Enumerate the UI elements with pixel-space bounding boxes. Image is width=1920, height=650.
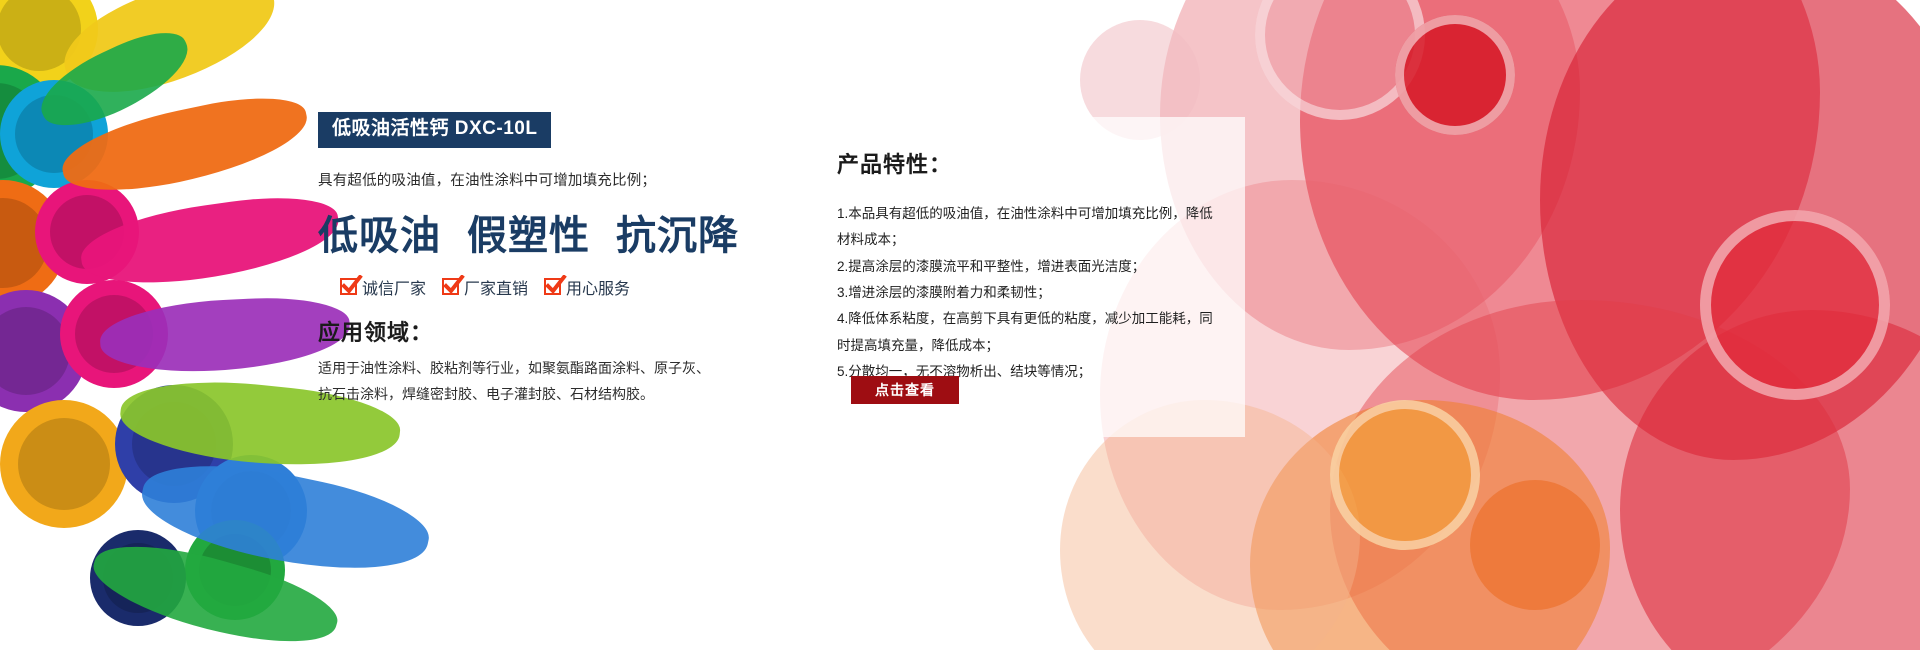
checkbox-checked-icon bbox=[442, 278, 459, 295]
headline-word-2: 假塑性 bbox=[467, 213, 590, 258]
product-headline: 低吸油假塑性抗沉降 bbox=[318, 203, 718, 261]
trust-badge-label-2: 厂家直销 bbox=[464, 275, 528, 299]
trust-badge-label-1: 诚信厂家 bbox=[362, 275, 426, 299]
view-details-button[interactable]: 点击查看 bbox=[851, 376, 959, 404]
trust-badge-row: 诚信厂家 厂家直销 用心服务 bbox=[340, 275, 718, 299]
feature-item: 2.提高涂层的漆膜流平和平整性，增进表面光洁度； bbox=[837, 254, 1219, 280]
trust-badge-3: 用心服务 bbox=[544, 275, 630, 299]
trust-badge-2: 厂家直销 bbox=[442, 275, 528, 299]
checkbox-checked-icon bbox=[340, 278, 357, 295]
feature-item: 1.本品具有超低的吸油值，在油性涂料中可增加填充比例，降低材料成本； bbox=[837, 201, 1219, 254]
trust-badge-label-3: 用心服务 bbox=[566, 275, 630, 299]
headline-word-1: 低吸油 bbox=[318, 213, 441, 258]
checkbox-checked-icon bbox=[544, 278, 561, 295]
features-list: 1.本品具有超低的吸油值，在油性涂料中可增加填充比例，降低材料成本； 2.提高涂… bbox=[837, 201, 1219, 385]
product-subtitle: 具有超低的吸油值，在油性涂料中可增加填充比例； bbox=[318, 169, 718, 190]
features-panel-title: 产品特性： bbox=[837, 147, 1219, 179]
left-content-block: 低吸油活性钙 DXC-10L 具有超低的吸油值，在油性涂料中可增加填充比例； 低… bbox=[318, 112, 718, 408]
trust-badge-1: 诚信厂家 bbox=[340, 275, 426, 299]
product-title-badge: 低吸油活性钙 DXC-10L bbox=[318, 112, 551, 148]
application-fields-body: 适用于油性涂料、胶粘剂等行业，如聚氨酯路面涂料、原子灰、抗石击涂料，焊缝密封胶、… bbox=[318, 356, 710, 408]
feature-item: 4.降低体系粘度，在高剪下具有更低的粘度，减少加工能耗，同时提高填充量，降低成本… bbox=[837, 306, 1219, 359]
headline-word-3: 抗沉降 bbox=[616, 213, 739, 258]
feature-item: 3.增进涂层的漆膜附着力和柔韧性； bbox=[837, 280, 1219, 306]
application-fields-title: 应用领域： bbox=[318, 315, 718, 347]
